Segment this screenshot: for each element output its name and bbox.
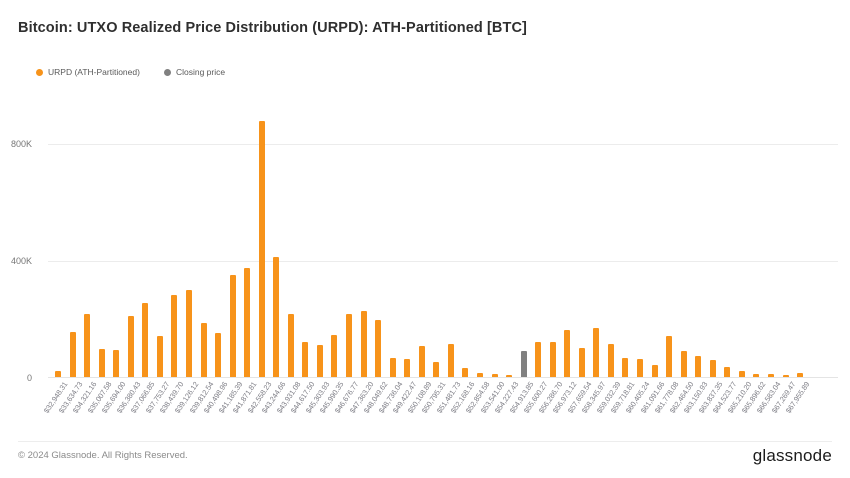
axis-baseline bbox=[48, 377, 838, 378]
bar[interactable] bbox=[492, 374, 498, 377]
bar[interactable] bbox=[783, 375, 789, 377]
bar[interactable] bbox=[186, 290, 192, 377]
plot-area: 0400K800K bbox=[48, 86, 838, 378]
bar[interactable] bbox=[448, 344, 454, 377]
bar[interactable] bbox=[593, 328, 599, 377]
bar[interactable] bbox=[535, 342, 541, 377]
bar[interactable] bbox=[477, 373, 483, 377]
bar[interactable] bbox=[99, 349, 105, 377]
bar[interactable] bbox=[637, 359, 643, 377]
bar[interactable] bbox=[695, 356, 701, 377]
bar[interactable] bbox=[230, 275, 236, 377]
bar[interactable] bbox=[506, 375, 512, 377]
bar[interactable] bbox=[579, 348, 585, 377]
bar[interactable] bbox=[753, 374, 759, 377]
bar[interactable] bbox=[768, 374, 774, 377]
bar[interactable] bbox=[302, 342, 308, 377]
bar[interactable] bbox=[55, 371, 61, 377]
bar[interactable] bbox=[361, 311, 367, 377]
bar[interactable] bbox=[157, 336, 163, 377]
bar[interactable] bbox=[331, 335, 337, 377]
bar[interactable] bbox=[433, 362, 439, 377]
bar[interactable] bbox=[142, 303, 148, 377]
x-axis: $32,948.31$33,634.73$34,321.16$35,007.58… bbox=[48, 380, 838, 440]
bar[interactable] bbox=[739, 371, 745, 377]
bar-closing-price[interactable] bbox=[521, 351, 527, 377]
bar[interactable] bbox=[390, 358, 396, 377]
bar[interactable] bbox=[608, 344, 614, 377]
bar[interactable] bbox=[215, 333, 221, 377]
bar[interactable] bbox=[113, 350, 119, 377]
bar[interactable] bbox=[259, 121, 265, 377]
bar[interactable] bbox=[317, 345, 323, 377]
bar[interactable] bbox=[84, 314, 90, 377]
bar[interactable] bbox=[797, 373, 803, 377]
bar[interactable] bbox=[273, 257, 279, 377]
bar[interactable] bbox=[710, 360, 716, 377]
y-axis-tick-label: 0 bbox=[27, 373, 32, 383]
bar[interactable] bbox=[652, 365, 658, 377]
bar[interactable] bbox=[70, 332, 76, 377]
footer-divider bbox=[18, 441, 832, 442]
bar[interactable] bbox=[724, 367, 730, 377]
bar[interactable] bbox=[171, 295, 177, 377]
glassnode-logo: glassnode bbox=[753, 446, 832, 466]
y-axis-tick-label: 800K bbox=[11, 139, 32, 149]
chart-plot: 0400K800K $32,948.31$33,634.73$34,321.16… bbox=[0, 0, 850, 478]
y-axis-tick-label: 400K bbox=[11, 256, 32, 266]
bar[interactable] bbox=[622, 358, 628, 377]
bar-series bbox=[48, 86, 838, 377]
bar[interactable] bbox=[288, 314, 294, 377]
bar[interactable] bbox=[462, 368, 468, 377]
bar[interactable] bbox=[419, 346, 425, 377]
copyright-text: © 2024 Glassnode. All Rights Reserved. bbox=[18, 450, 188, 461]
bar[interactable] bbox=[128, 316, 134, 377]
bar[interactable] bbox=[666, 336, 672, 377]
bar[interactable] bbox=[404, 359, 410, 377]
chart-page: Bitcoin: UTXO Realized Price Distributio… bbox=[0, 0, 850, 478]
bar[interactable] bbox=[346, 314, 352, 377]
bar[interactable] bbox=[375, 320, 381, 377]
bar[interactable] bbox=[201, 323, 207, 377]
bar[interactable] bbox=[550, 342, 556, 378]
bar[interactable] bbox=[681, 351, 687, 377]
bar[interactable] bbox=[244, 268, 250, 377]
bar[interactable] bbox=[564, 330, 570, 377]
